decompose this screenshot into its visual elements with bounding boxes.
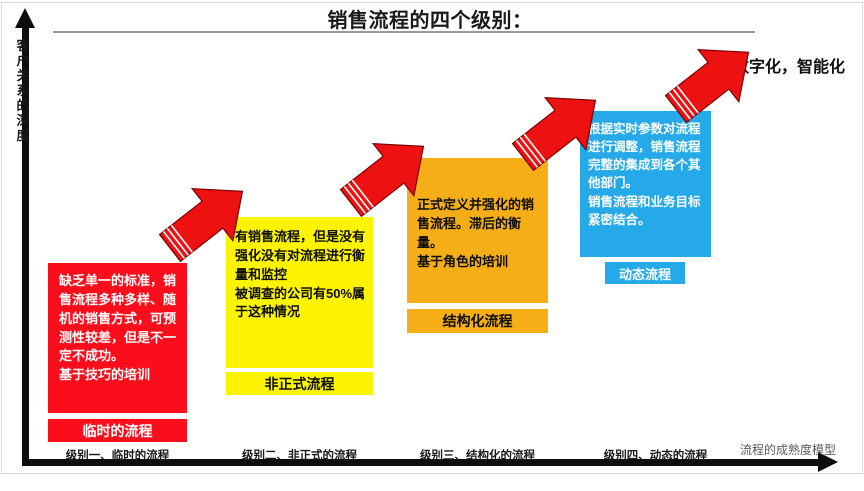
level-1-description-box: 缺乏单一的标准，销 售流程多种多样、随 机的销售方式，可预 测性较差，但是不一 … (48, 263, 187, 413)
x-axis-label: 流程的成熟度模型 (740, 441, 836, 458)
tick-label-level-4: 级别四、动态的流程 (582, 447, 729, 463)
red-arrow-icon-1 (152, 176, 262, 262)
red-arrow-icon-3 (505, 85, 615, 171)
red-arrow-icon-2 (333, 131, 443, 217)
tick-label-level-3: 级别三、结构化的流程 (404, 447, 551, 463)
tick-label-level-2: 级别二、非正式的流程 (226, 447, 373, 463)
tick-label-level-1: 级别一、临时的流程 (48, 447, 187, 463)
level-1-description-text: 缺乏单一的标准，销 售流程多种多样、随 机的销售方式，可预 测性较差，但是不一 … (59, 272, 178, 385)
y-axis-arrowhead-icon (15, 8, 35, 28)
slide-canvas: 销售流程的四个级别： 客户 关系的深度 流程的成熟度模型 级别一、临时的流程 级… (0, 0, 864, 491)
slide-frame-bottom-border (0, 473, 864, 474)
page-title: 销售流程的四个级别： (180, 4, 680, 33)
level-2-tag: 非正式流程 (226, 372, 373, 395)
level-1-tag: 临时的流程 (48, 419, 187, 442)
title-divider (53, 31, 755, 33)
level-4-tag: 动态流程 (605, 262, 685, 284)
slide-frame-top-border (0, 2, 864, 3)
red-arrow-icon-4 (658, 37, 768, 123)
level-3-tag: 结构化流程 (407, 309, 548, 333)
slide-frame-right-border (862, 2, 863, 473)
slide-frame-left-border (1, 2, 2, 473)
y-axis-label: 客户 关系的深度 (12, 38, 34, 143)
